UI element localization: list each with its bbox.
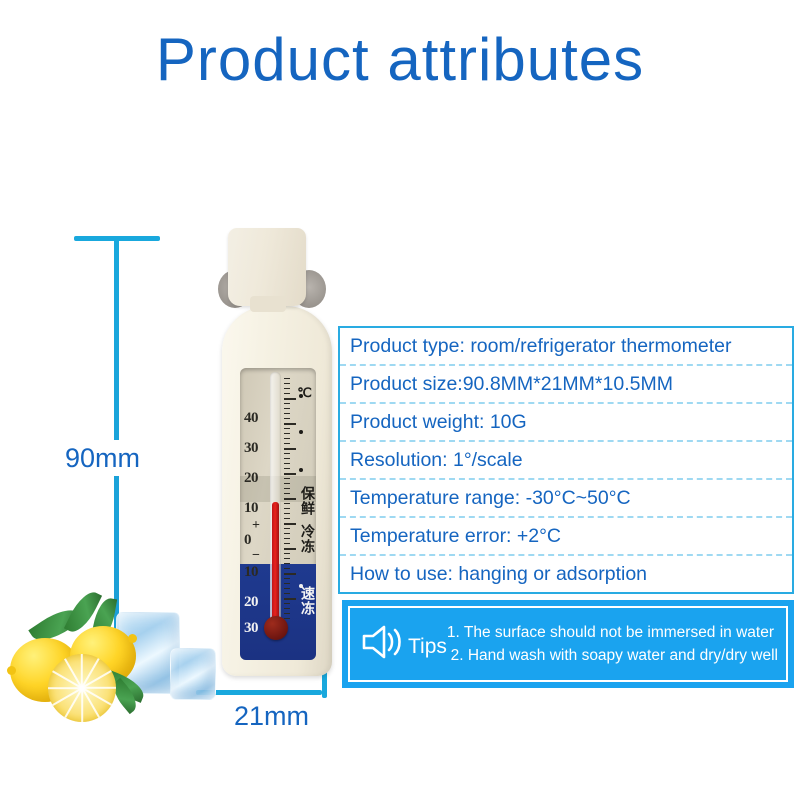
ice-cube-small: [170, 648, 216, 700]
scale-dot-marker: [299, 430, 303, 434]
speaker-icon: [360, 622, 406, 667]
width-dimension-label: 21mm: [234, 700, 309, 732]
plus-sign: +: [252, 518, 260, 534]
tips-box: Tips 1. The surface should not be immers…: [342, 600, 794, 688]
scale-number-30: 30: [244, 440, 258, 457]
scale-tick-marks: [284, 374, 298, 624]
scale-dot-marker: [299, 468, 303, 472]
tip-line-1: 1. The surface should not be immersed in…: [447, 621, 780, 644]
zone-label-fresh: 保鲜: [298, 486, 316, 516]
tips-inner-frame: Tips 1. The surface should not be immers…: [348, 606, 788, 682]
spec-row-resolution: Resolution: 1°/scale: [340, 442, 792, 480]
scale-number-20: 20: [244, 470, 258, 487]
scale-number-40: 40: [244, 410, 258, 427]
scale-number-minus-20: 20: [244, 594, 258, 611]
scale-number-minus-10: 10: [244, 564, 258, 581]
hanging-clip: [228, 228, 306, 306]
minus-sign: −: [252, 548, 260, 564]
spec-row-temperature-error: Temperature error: +2°C: [340, 518, 792, 556]
scale-dot-marker: [299, 394, 303, 398]
spec-row-product-type: Product type: room/refrigerator thermome…: [340, 328, 792, 366]
product-specifications-box: Product type: room/refrigerator thermome…: [338, 326, 794, 594]
lemon-and-ice-decoration: [4, 578, 222, 738]
spec-row-how-to-use: How to use: hanging or adsorption: [340, 556, 792, 592]
tip-line-2: 2. Hand wash with soapy water and dry/dr…: [447, 644, 780, 667]
spec-row-temperature-range: Temperature range: -30°C~50°C: [340, 480, 792, 518]
scale-number-10: 10: [244, 500, 258, 517]
mercury-column: [272, 502, 279, 630]
spec-row-product-size: Product size:90.8MM*21MM*10.5MM: [340, 366, 792, 404]
scale-number-0: 0: [244, 532, 251, 549]
spec-row-product-weight: Product weight: 10G: [340, 404, 792, 442]
height-dimension-label: 90mm: [60, 440, 145, 476]
lemon-half-slice: [48, 654, 116, 722]
zone-label-freeze: 冷冻: [298, 524, 316, 554]
scale-number-minus-30: 30: [244, 620, 258, 637]
tips-label: Tips: [408, 636, 447, 658]
scale-dot-marker: [299, 584, 303, 588]
thermometer-scale-face: 40 30 20 10 + 0 − 10 20 30 ℃ 保鲜 冷冻 速冻: [240, 368, 316, 660]
tips-line-list: 1. The surface should not be immersed in…: [447, 621, 780, 667]
zone-label-quick-freeze: 速冻: [298, 586, 316, 616]
page-title: Product attributes: [0, 24, 800, 96]
clip-neck: [250, 296, 286, 312]
